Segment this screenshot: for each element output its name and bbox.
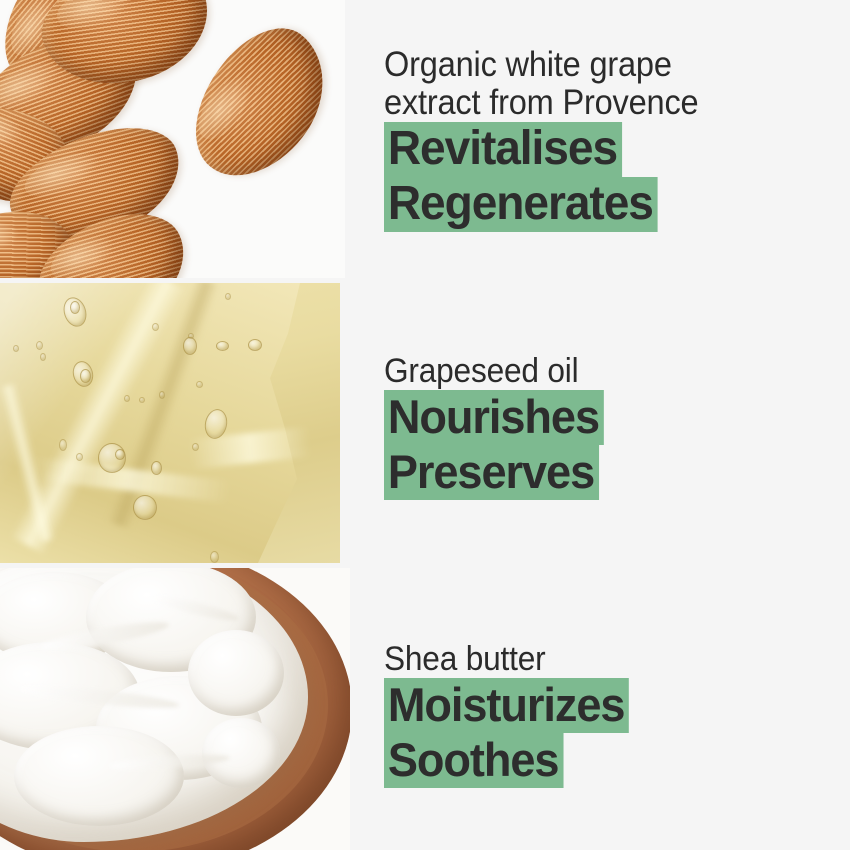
- benefit-label-regenerates: Regenerates: [384, 177, 658, 232]
- benefit-block-grapeseed-oil: Grapeseed oil Nourishes Preserves: [384, 352, 613, 500]
- almonds-illustration: [0, 0, 345, 278]
- shea-butter-illustration: [0, 568, 350, 850]
- benefit-label-nourishes: Nourishes: [384, 390, 604, 445]
- benefit-label-revitalises: Revitalises: [384, 122, 622, 177]
- subtitle-line-1: Organic white grape: [384, 46, 698, 84]
- subtitle-line-1: Grapeseed oil: [384, 352, 597, 390]
- benefit-block-grape-extract: Organic white grape extract from Provenc…: [384, 46, 722, 232]
- benefit-block-shea-butter: Shea butter Moisturizes Soothes: [384, 640, 639, 788]
- oil-illustration: [0, 283, 340, 563]
- almonds-photo: [0, 0, 345, 278]
- grapeseed-oil-photo: [0, 283, 340, 563]
- shea-butter-photo: [0, 568, 350, 850]
- benefit-label-moisturizes: Moisturizes: [384, 678, 629, 733]
- subtitle-line-1: Shea butter: [384, 640, 622, 678]
- benefit-label-preserves: Preserves: [384, 445, 599, 500]
- ingredient-benefits-infographic: Organic white grape extract from Provenc…: [0, 0, 850, 850]
- benefit-label-soothes: Soothes: [384, 733, 563, 788]
- subtitle-line-2: extract from Provence: [384, 84, 698, 122]
